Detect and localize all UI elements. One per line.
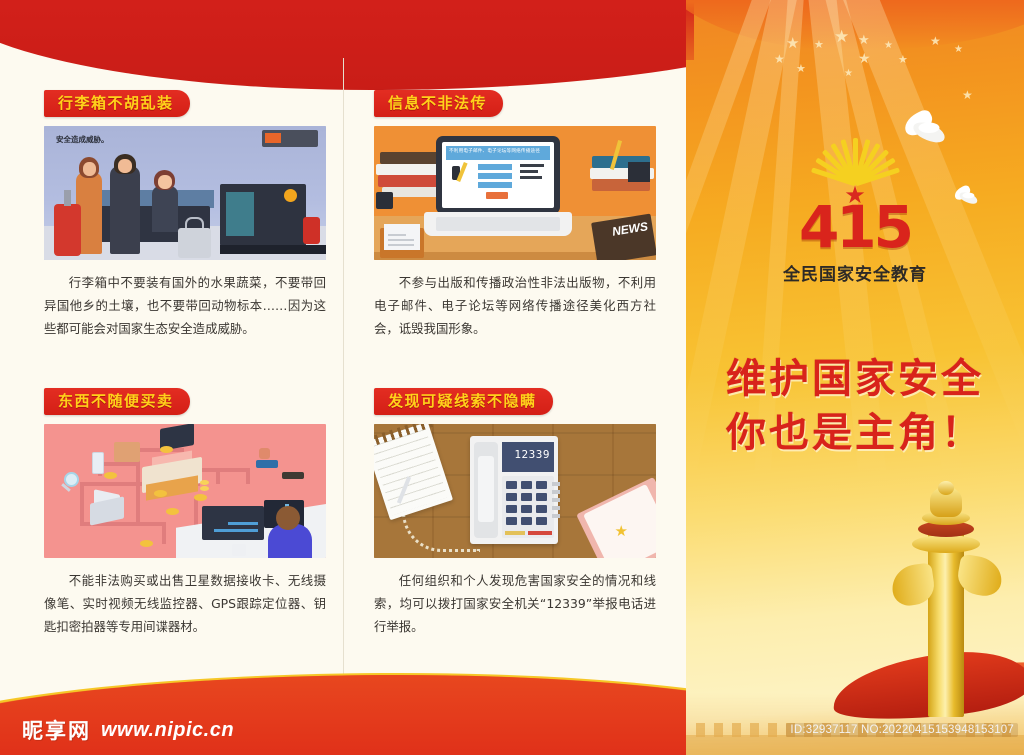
brochure-page: 行李箱不胡乱装 安全造成威胁。 B6 行李箱中不要装有国外 <box>0 0 1024 755</box>
card-caption: 任何组织和个人发现危害国家安全的情况和线索，均可以拨打国家安全机关“12339”… <box>374 570 656 639</box>
header-red-wave <box>0 0 688 90</box>
laptop-books-illustration: 不利用电子邮件、电子论坛等网络传播途径 NEWS <box>374 126 656 260</box>
lipstick-icon <box>259 448 270 459</box>
card-caption: 行李箱中不要装有国外的水果蔬菜，不要带回异国他乡的土壤，也不要带回动物标本……因… <box>44 272 326 341</box>
card-report-clue: 发现可疑线索不隐瞒 12339 <box>374 388 656 639</box>
watermark: 昵享网 www.nipic.cn <box>22 715 234 745</box>
poster-slogan: 维护国家安全 你也是主角！ <box>686 352 1024 461</box>
card-title: 东西不随便买卖 <box>44 388 190 415</box>
package-icon <box>114 442 140 462</box>
illustration-inline-text: 安全造成威胁。 <box>56 134 109 145</box>
fold-divider <box>343 58 344 703</box>
card-title: 行李箱不胡乱装 <box>44 90 190 117</box>
phone-icon <box>92 452 104 474</box>
departure-screen-icon <box>262 130 318 147</box>
image-id-label: ID:32937117 NO:20220415153948153107 <box>786 723 1018 737</box>
star-icon: ★ <box>615 522 628 540</box>
huabiao-column-icon <box>890 487 1002 717</box>
header-wave-band <box>0 0 688 96</box>
usb-stick-icon <box>282 472 304 479</box>
laptop-banner-text: 不利用电子邮件、电子论坛等网络传播途径 <box>449 148 549 154</box>
card-caption: 不能非法购买或出售卫星数据接收卡、无线摄像笔、实时视频无线监控器、GPS跟踪定位… <box>44 570 326 639</box>
desk-telephone-illustration: 12339 <box>374 424 656 558</box>
isometric-online-trading-illustration <box>44 424 326 558</box>
logo-number: 415 <box>686 198 1024 256</box>
phone-display-number: 12339 <box>502 448 554 461</box>
watermark-url: www.nipic.cn <box>101 719 234 742</box>
card-trading: 东西不随便买卖 <box>44 388 326 639</box>
card-information: 信息不非法传 不利用电子邮件、电子论坛等网络传播途径 <box>374 90 656 341</box>
dove-icon <box>901 114 946 141</box>
magnifier-icon <box>64 472 79 487</box>
slogan-line-2: 你也是主角！ <box>686 406 1024 460</box>
usb-icon <box>256 460 278 468</box>
leaflet-panels: 行李箱不胡乱装 安全造成威胁。 B6 行李箱中不要装有国外 <box>0 0 688 755</box>
card-caption: 不参与出版和传播政治性非法出版物，不利用电子邮件、电子论坛等网络传播途径美化西方… <box>374 272 656 341</box>
logo-415: ★ 415 全民国家安全教育 <box>686 172 1024 290</box>
logo-subtitle: 全民国家安全教育 <box>686 260 1024 285</box>
card-title: 发现可疑线索不隐瞒 <box>374 388 553 415</box>
airport-check-in-illustration: 安全造成威胁。 B6 <box>44 126 326 260</box>
slogan-line-1: 维护国家安全 <box>686 352 1024 406</box>
poster-panel: ★ ★ ★ ★ ★ ★ ★ ★ ★ ★ ★ ★ ★ <box>686 0 1024 755</box>
card-luggage: 行李箱不胡乱装 安全造成威胁。 B6 行李箱中不要装有国外 <box>44 90 326 341</box>
watermark-brand: 昵享网 <box>22 715 91 745</box>
card-title: 信息不非法传 <box>374 90 503 117</box>
